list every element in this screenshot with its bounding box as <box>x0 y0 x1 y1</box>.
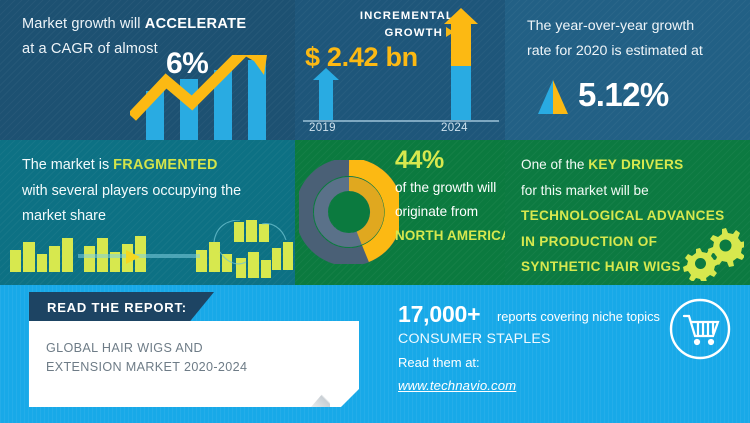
city-buildings-fragmentation-icon <box>0 220 295 282</box>
panel-market-growth: Market growth will ACCELERATE at a CAGR … <box>0 0 295 140</box>
incremental-growth-label: INCREMENTAL GROWTH <box>309 8 454 42</box>
incremental-growth-label-line2: GROWTH <box>385 27 443 39</box>
key-drivers-text-part2: for this market will be <box>521 183 649 198</box>
top-row: Market growth will ACCELERATE at a CAGR … <box>0 0 750 140</box>
north-america-percent: 44% <box>395 146 444 174</box>
yoy-growth-text: The year-over-year growth rate for 2020 … <box>527 14 732 64</box>
market-growth-text-part1: Market growth will <box>22 16 145 32</box>
fragmentation-text-part2: with several players occupying the <box>22 183 241 199</box>
north-america-text-line2: originate from <box>395 204 478 219</box>
technavio-url-link[interactable]: www.technavio.com <box>398 378 516 393</box>
panel-key-drivers: One of the KEY DRIVERS for this market w… <box>505 140 750 285</box>
panel-yoy-growth: The year-over-year growth rate for 2020 … <box>505 0 750 140</box>
reports-count-suffix: reports covering niche topics <box>497 309 660 324</box>
market-growth-accelerate: ACCELERATE <box>145 16 247 32</box>
key-drivers-keyword: KEY DRIVERS <box>588 157 683 172</box>
panel-market-fragmentation: The market is FRAGMENTED with several pl… <box>0 140 295 285</box>
year-label-2024: 2024 <box>441 122 468 134</box>
read-them-at-label: Read them at: <box>398 355 480 370</box>
report-category: CONSUMER STAPLES <box>398 331 551 347</box>
report-title-line2: EXTENSION MARKET 2020-2024 <box>46 360 247 374</box>
north-america-text: 44% of the growth will originate from NO… <box>395 148 513 248</box>
triangle-growth-icon <box>535 80 571 114</box>
driver-line-1: TECHNOLOGICAL ADVANCES <box>521 208 724 223</box>
key-drivers-text-part1: One of the <box>521 157 588 172</box>
growth-arrow-chart-icon <box>130 55 295 140</box>
panel-north-america-share: 44% of the growth will originate from NO… <box>295 140 505 285</box>
driver-line-3: SYNTHETIC HAIR WIGS <box>521 259 681 274</box>
bar-2019-icon <box>313 68 339 120</box>
yoy-growth-text-line2: rate for 2020 is estimated at <box>527 43 703 59</box>
bar-2024-icon <box>444 8 478 120</box>
infographic-root: Market growth will ACCELERATE at a CAGR … <box>0 0 750 423</box>
north-america-region-label: NORTH AMERICA <box>395 228 511 243</box>
fragmentation-text: The market is FRAGMENTED with several pl… <box>22 153 287 230</box>
yoy-growth-text-line1: The year-over-year growth <box>527 18 694 34</box>
fragmentation-text-part1: The market is <box>22 157 113 173</box>
read-the-report-tab[interactable]: READ THE REPORT: <box>29 292 214 325</box>
fragmentation-keyword: FRAGMENTED <box>113 157 218 173</box>
gears-icon <box>682 225 744 281</box>
report-title-line1: GLOBAL HAIR WIGS AND <box>46 341 203 355</box>
shopping-cart-icon[interactable] <box>668 297 732 361</box>
driver-line-2: IN PRODUCTION OF <box>521 234 657 249</box>
panel-incremental-growth: INCREMENTAL GROWTH $ 2.42 bn 2019 2024 <box>295 0 505 140</box>
middle-row: The market is FRAGMENTED with several pl… <box>0 140 750 285</box>
yoy-growth-rate: 5.12% <box>578 76 669 114</box>
donut-chart-icon <box>299 160 399 264</box>
report-title: GLOBAL HAIR WIGS AND EXTENSION MARKET 20… <box>46 339 346 377</box>
incremental-growth-label-line1: INCREMENTAL <box>360 10 454 22</box>
reports-count: 17,000+ <box>398 301 480 328</box>
bottom-row: READ THE REPORT: GLOBAL HAIR WIGS AND EX… <box>0 285 750 423</box>
north-america-text-line1: of the growth will <box>395 180 496 195</box>
year-label-2019: 2019 <box>309 122 336 134</box>
